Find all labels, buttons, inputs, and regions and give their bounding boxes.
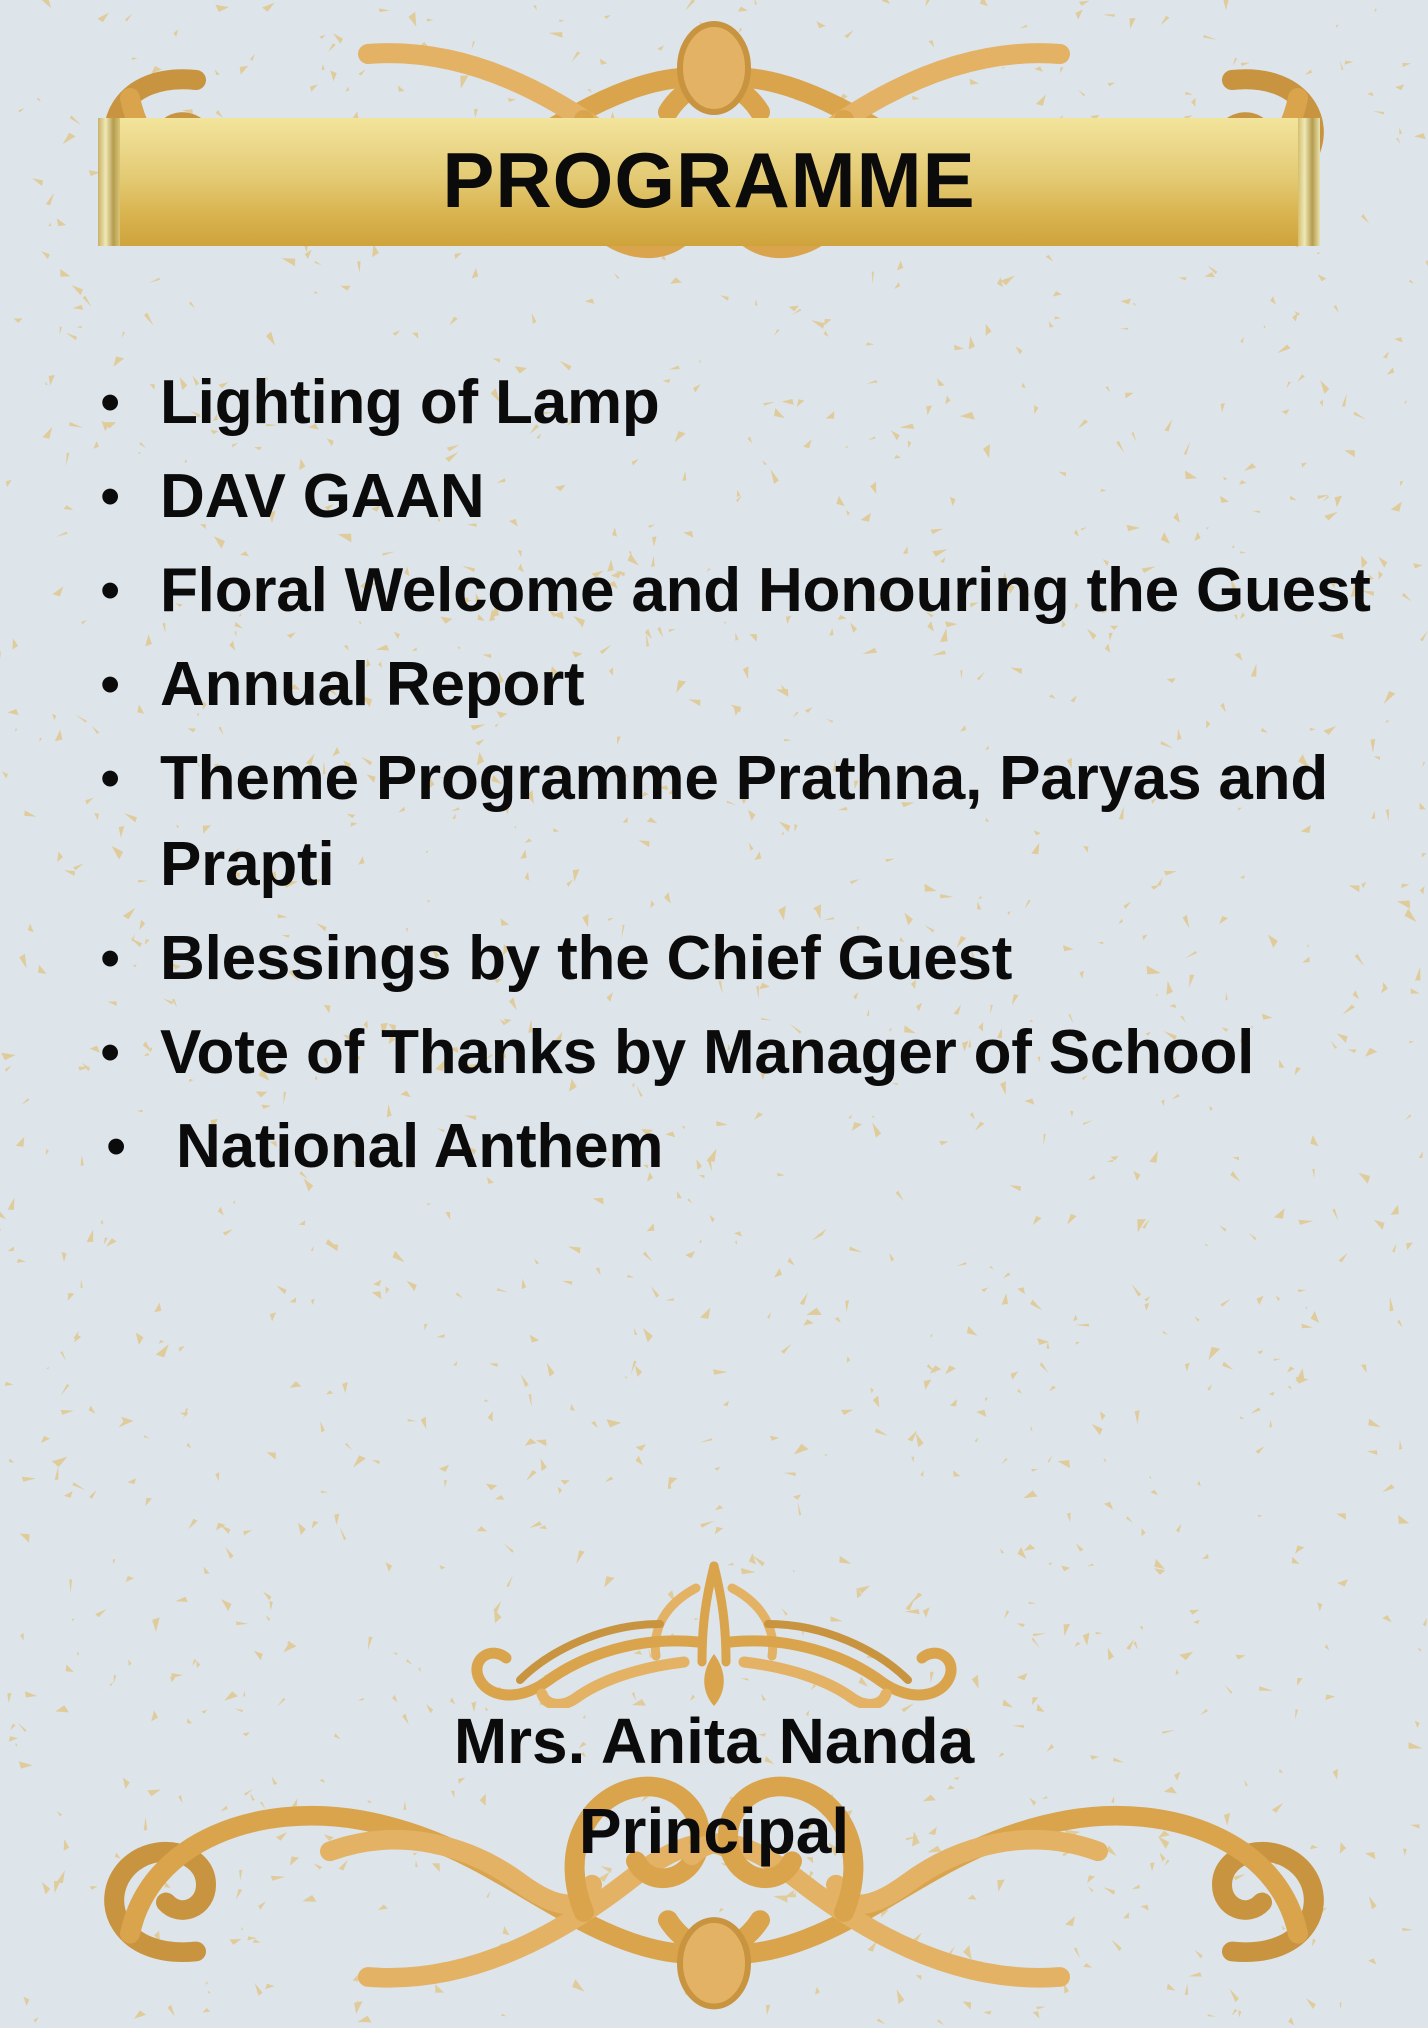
programme-item-label: National Anthem xyxy=(160,1104,1374,1190)
programme-item-label: Theme Programme Prathna, Paryas and Prap… xyxy=(160,736,1374,908)
programme-item: •Theme Programme Prathna, Paryas and Pra… xyxy=(84,736,1374,908)
programme-item: •DAV GAAN xyxy=(84,454,1374,540)
programme-item-label: Floral Welcome and Honouring the Guest xyxy=(160,548,1374,634)
bullet-icon: • xyxy=(84,736,160,822)
bullet-icon: • xyxy=(84,916,160,1002)
programme-item: •Annual Report xyxy=(84,642,1374,728)
bullet-icon: • xyxy=(84,1104,160,1190)
programme-item-label: DAV GAAN xyxy=(160,454,1374,540)
programme-list: •Lighting of Lamp•DAV GAAN•Floral Welcom… xyxy=(84,360,1374,1198)
programme-item-label: Vote of Thanks by Manager of School xyxy=(160,1010,1374,1096)
programme-item-label: Lighting of Lamp xyxy=(160,360,1374,446)
signature-name: Mrs. Anita Nanda xyxy=(0,1700,1428,1782)
programme-item: •Lighting of Lamp xyxy=(84,360,1374,446)
programme-item: •National Anthem xyxy=(84,1104,1374,1190)
signature-role: Principal xyxy=(0,1790,1428,1872)
page-title: PROGRAMME xyxy=(98,118,1320,246)
programme-poster: PROGRAMME •Lighting of Lamp•DAV GAAN•Flo… xyxy=(0,0,1428,2028)
programme-item: •Blessings by the Chief Guest xyxy=(84,916,1374,1002)
bullet-icon: • xyxy=(84,360,160,446)
programme-item-label: Blessings by the Chief Guest xyxy=(160,916,1374,1002)
bullet-icon: • xyxy=(84,454,160,540)
programme-item: •Vote of Thanks by Manager of School xyxy=(84,1010,1374,1096)
programme-item-label: Annual Report xyxy=(160,642,1374,728)
middle-fleuron-ornament xyxy=(434,1558,994,1708)
bullet-icon: • xyxy=(84,548,160,634)
programme-item: •Floral Welcome and Honouring the Guest xyxy=(84,548,1374,634)
title-banner: PROGRAMME xyxy=(98,118,1320,246)
bullet-icon: • xyxy=(84,642,160,728)
bullet-icon: • xyxy=(84,1010,160,1096)
